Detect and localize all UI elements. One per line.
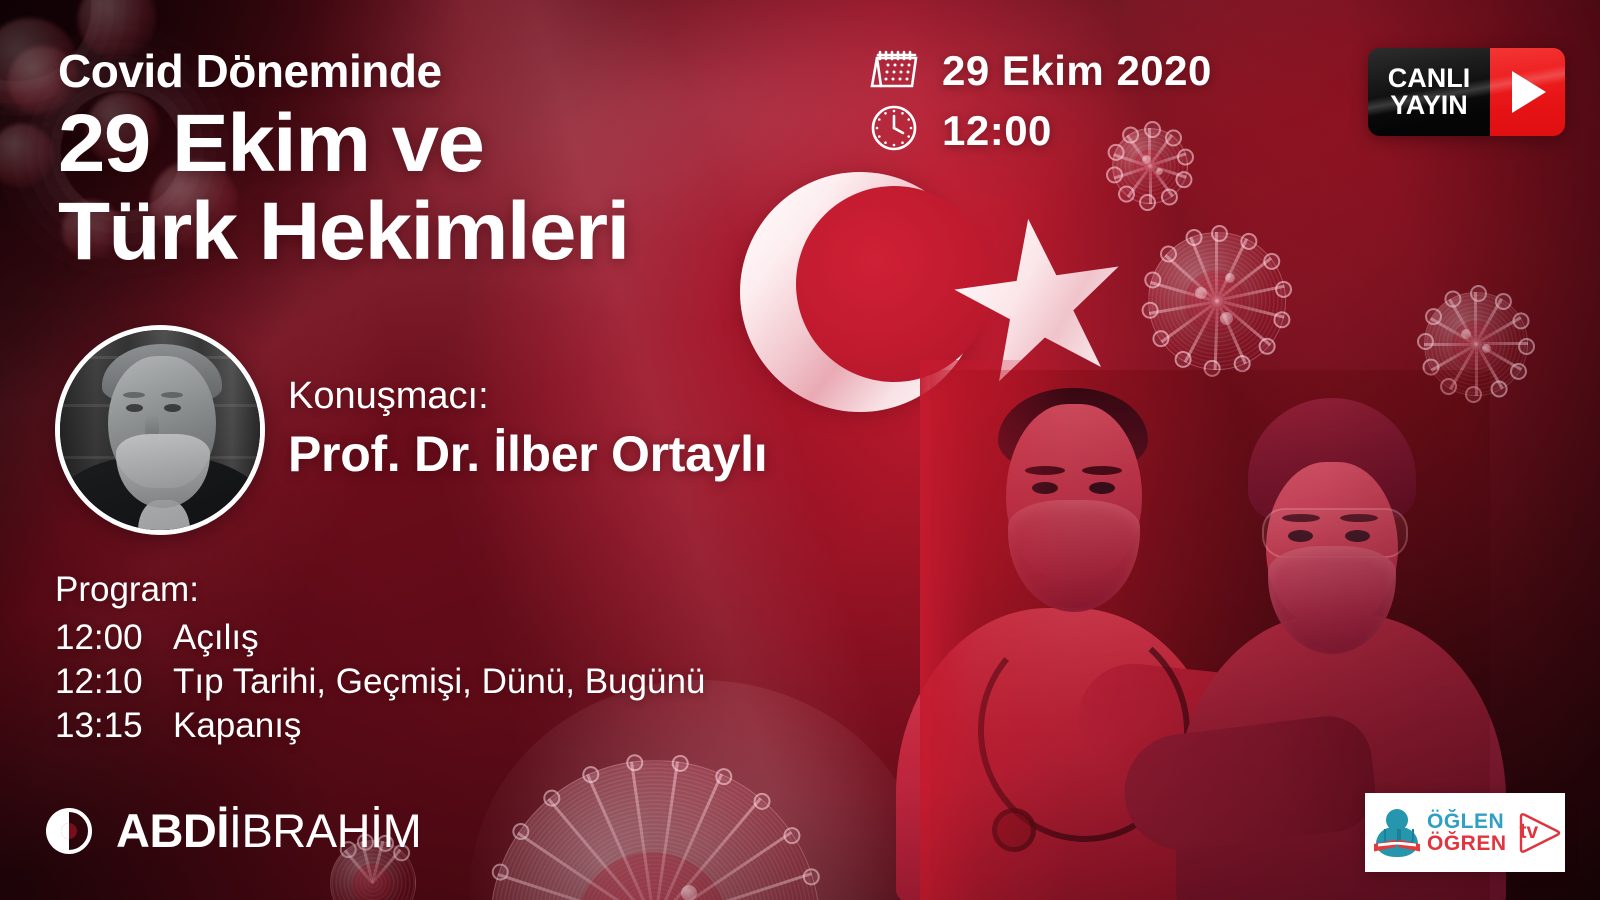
sponsor-logo-text: ABDİİBRAHİM (116, 803, 421, 858)
channel-word-2: ÖĞREN (1427, 833, 1507, 854)
channel-word-1: ÖĞLEN (1427, 811, 1507, 832)
speaker-label: Konuşmacı: (288, 375, 489, 418)
event-kicker: Covid Döneminde (58, 44, 442, 98)
sponsor-name-bold: ABDİ (116, 804, 229, 857)
doctor-reading-icon (1373, 807, 1421, 859)
clock-icon (868, 102, 920, 159)
program-row-text: Tıp Tarihi, Geçmişi, Dünü, Bugünü (173, 662, 705, 702)
program-row-text: Açılış (173, 618, 259, 658)
abdi-ibrahim-mark-icon (46, 808, 92, 854)
event-date-row: 29 Ekim 2020 (868, 42, 1212, 99)
program-row-time: 12:00 (55, 618, 173, 658)
program-row: 13:15 Kapanış (55, 706, 301, 746)
sponsor-logo-abdi-ibrahim: ABDİİBRAHİM (46, 803, 421, 858)
event-title-line2: Türk Hekimleri (58, 192, 629, 272)
live-badge-line2: YAYIN (1390, 92, 1468, 119)
program-row-text: Kapanış (173, 706, 301, 746)
live-badge-text-block: CANLI YAYIN (1368, 48, 1490, 136)
channel-wordmark: ÖĞLEN ÖĞREN (1427, 811, 1507, 854)
program-row-time: 12:10 (55, 662, 173, 702)
speaker-avatar (55, 325, 265, 535)
event-date-text: 29 Ekim 2020 (942, 47, 1212, 95)
channel-logo-oglen-ogren-tv[interactable]: ÖĞLEN ÖĞREN tv (1365, 793, 1565, 872)
speaker-name: Prof. Dr. İlber Ortaylı (288, 425, 767, 483)
program-heading: Program: (55, 570, 199, 610)
event-title-line1: 29 Ekim ve (58, 104, 483, 184)
program-row-time: 13:15 (55, 706, 173, 746)
event-poster: Covid Döneminde 29 Ekim ve Türk Hekimler… (0, 0, 1600, 900)
event-time-row: 12:00 (868, 102, 1052, 159)
tv-label: tv (1520, 820, 1539, 844)
play-icon (1512, 71, 1546, 113)
live-broadcast-badge[interactable]: CANLI YAYIN (1368, 48, 1565, 136)
event-time-text: 12:00 (942, 107, 1052, 155)
live-badge-line1: CANLI (1388, 65, 1471, 92)
sponsor-name-light: İBRAHİM (229, 804, 421, 857)
program-row: 12:00 Açılış (55, 618, 259, 658)
calendar-icon (868, 42, 920, 99)
live-badge-play-area[interactable] (1490, 48, 1565, 136)
program-row: 12:10 Tıp Tarihi, Geçmişi, Dünü, Bugünü (55, 662, 705, 702)
tv-play-icon: tv (1513, 807, 1565, 859)
